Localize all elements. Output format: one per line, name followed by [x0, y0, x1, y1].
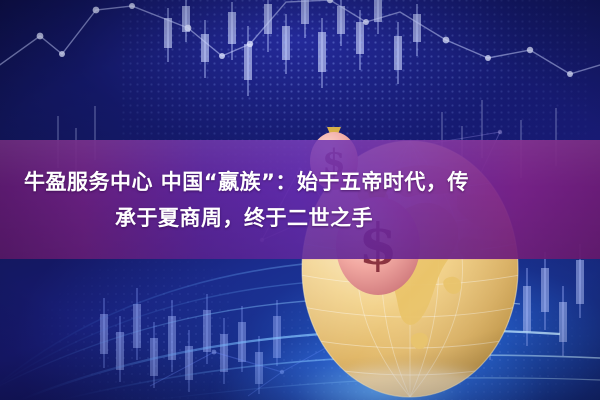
banner-image: $ $ 牛盈服务中心 中国“嬴族”：始于五帝时代，传 承于夏商周，终于二世之手 [0, 0, 600, 400]
vignette-overlay [0, 0, 600, 400]
